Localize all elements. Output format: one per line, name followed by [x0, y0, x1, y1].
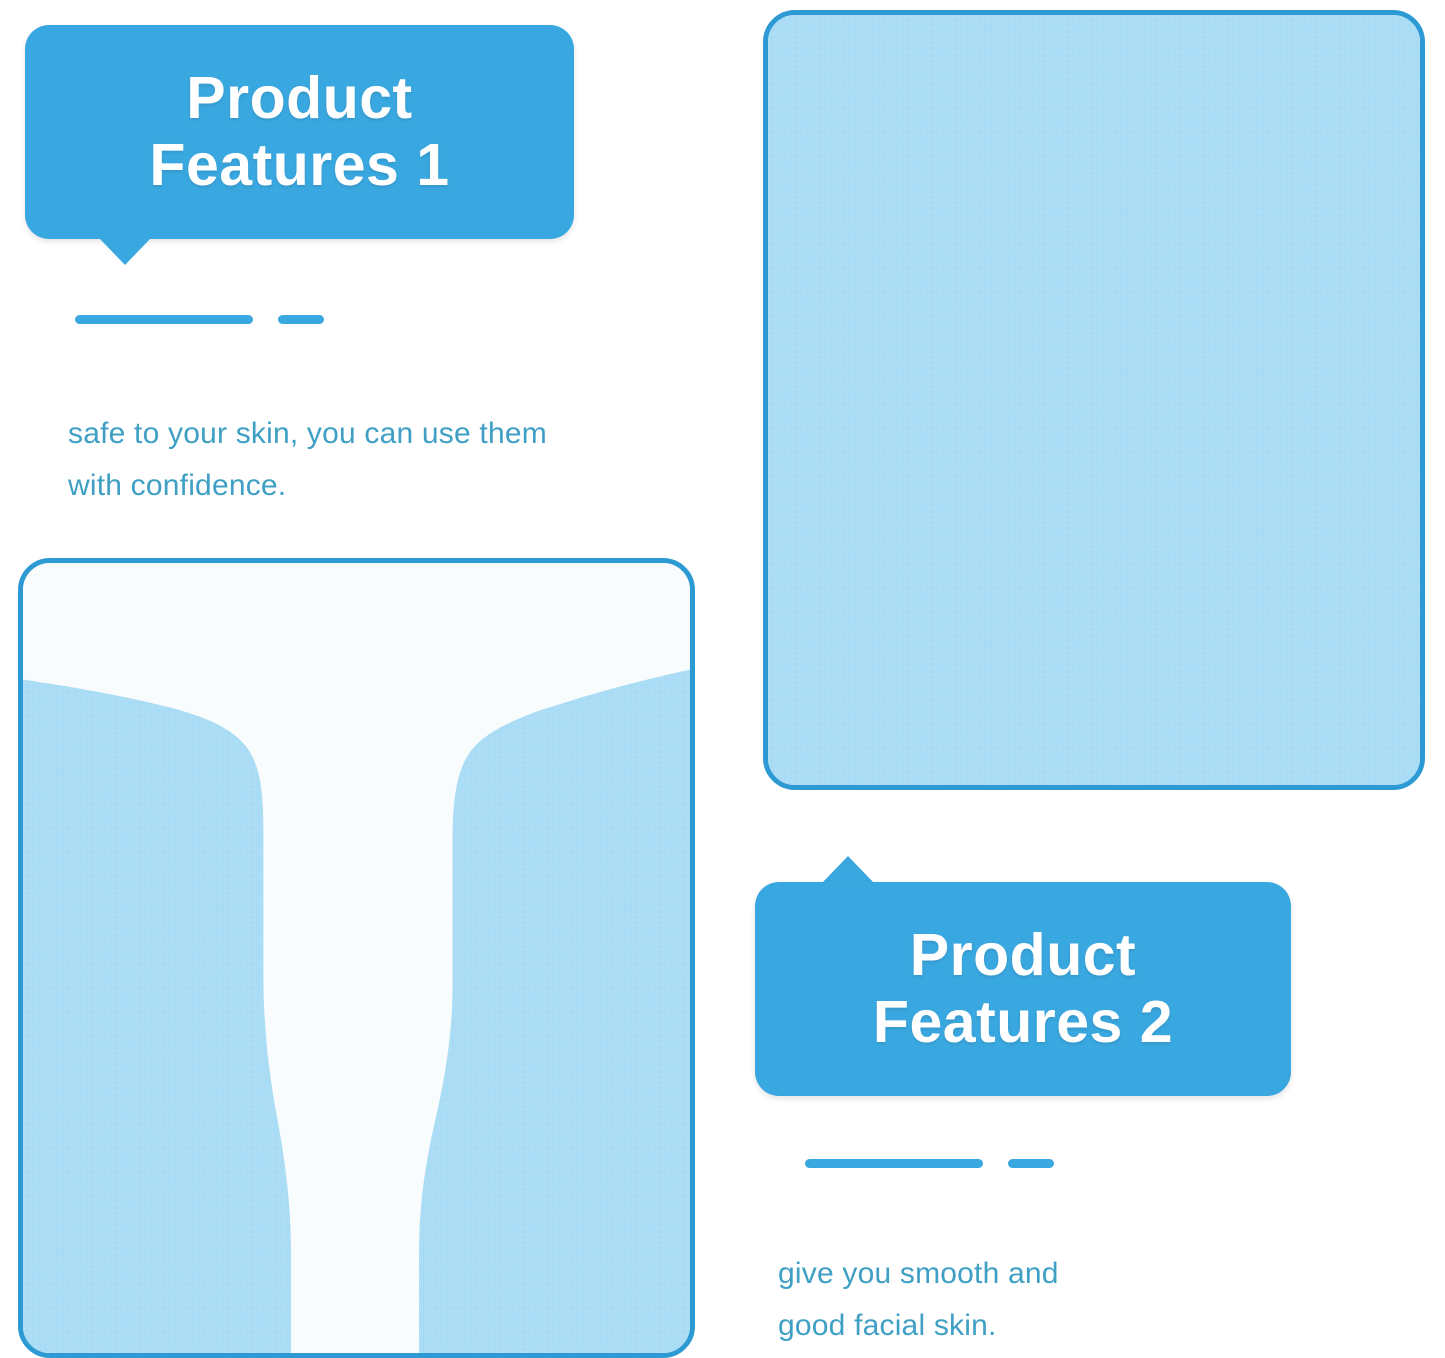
product-photo-tshape-graphic [23, 563, 690, 1353]
product-features-2-badge-label: Product Features 2 [873, 922, 1173, 1057]
feature-1-divider [75, 315, 325, 324]
divider-dash-short-icon [278, 315, 324, 324]
product-features-1-description: safe to your skin, you can use them with… [68, 408, 628, 511]
product-features-2-description: give you smooth and good facial skin. [778, 1248, 1258, 1351]
product-photo-hourglass [763, 10, 1425, 790]
product-photo-hourglass-graphic [768, 15, 1420, 785]
divider-dash-long-icon [805, 1159, 983, 1168]
product-features-1-badge: Product Features 1 [25, 25, 574, 239]
feature-2-divider [805, 1159, 1055, 1168]
product-features-2-badge-pointer-icon [822, 856, 874, 883]
product-features-2-badge: Product Features 2 [755, 882, 1291, 1096]
product-feature-infographic: Product Features 1 safe to your skin, yo… [0, 0, 1445, 1358]
product-photo-tshape [18, 558, 695, 1358]
divider-dash-short-icon [1008, 1159, 1054, 1168]
product-features-1-badge-label: Product Features 1 [149, 65, 449, 200]
divider-dash-long-icon [75, 315, 253, 324]
product-features-1-badge-pointer-icon [99, 238, 151, 265]
